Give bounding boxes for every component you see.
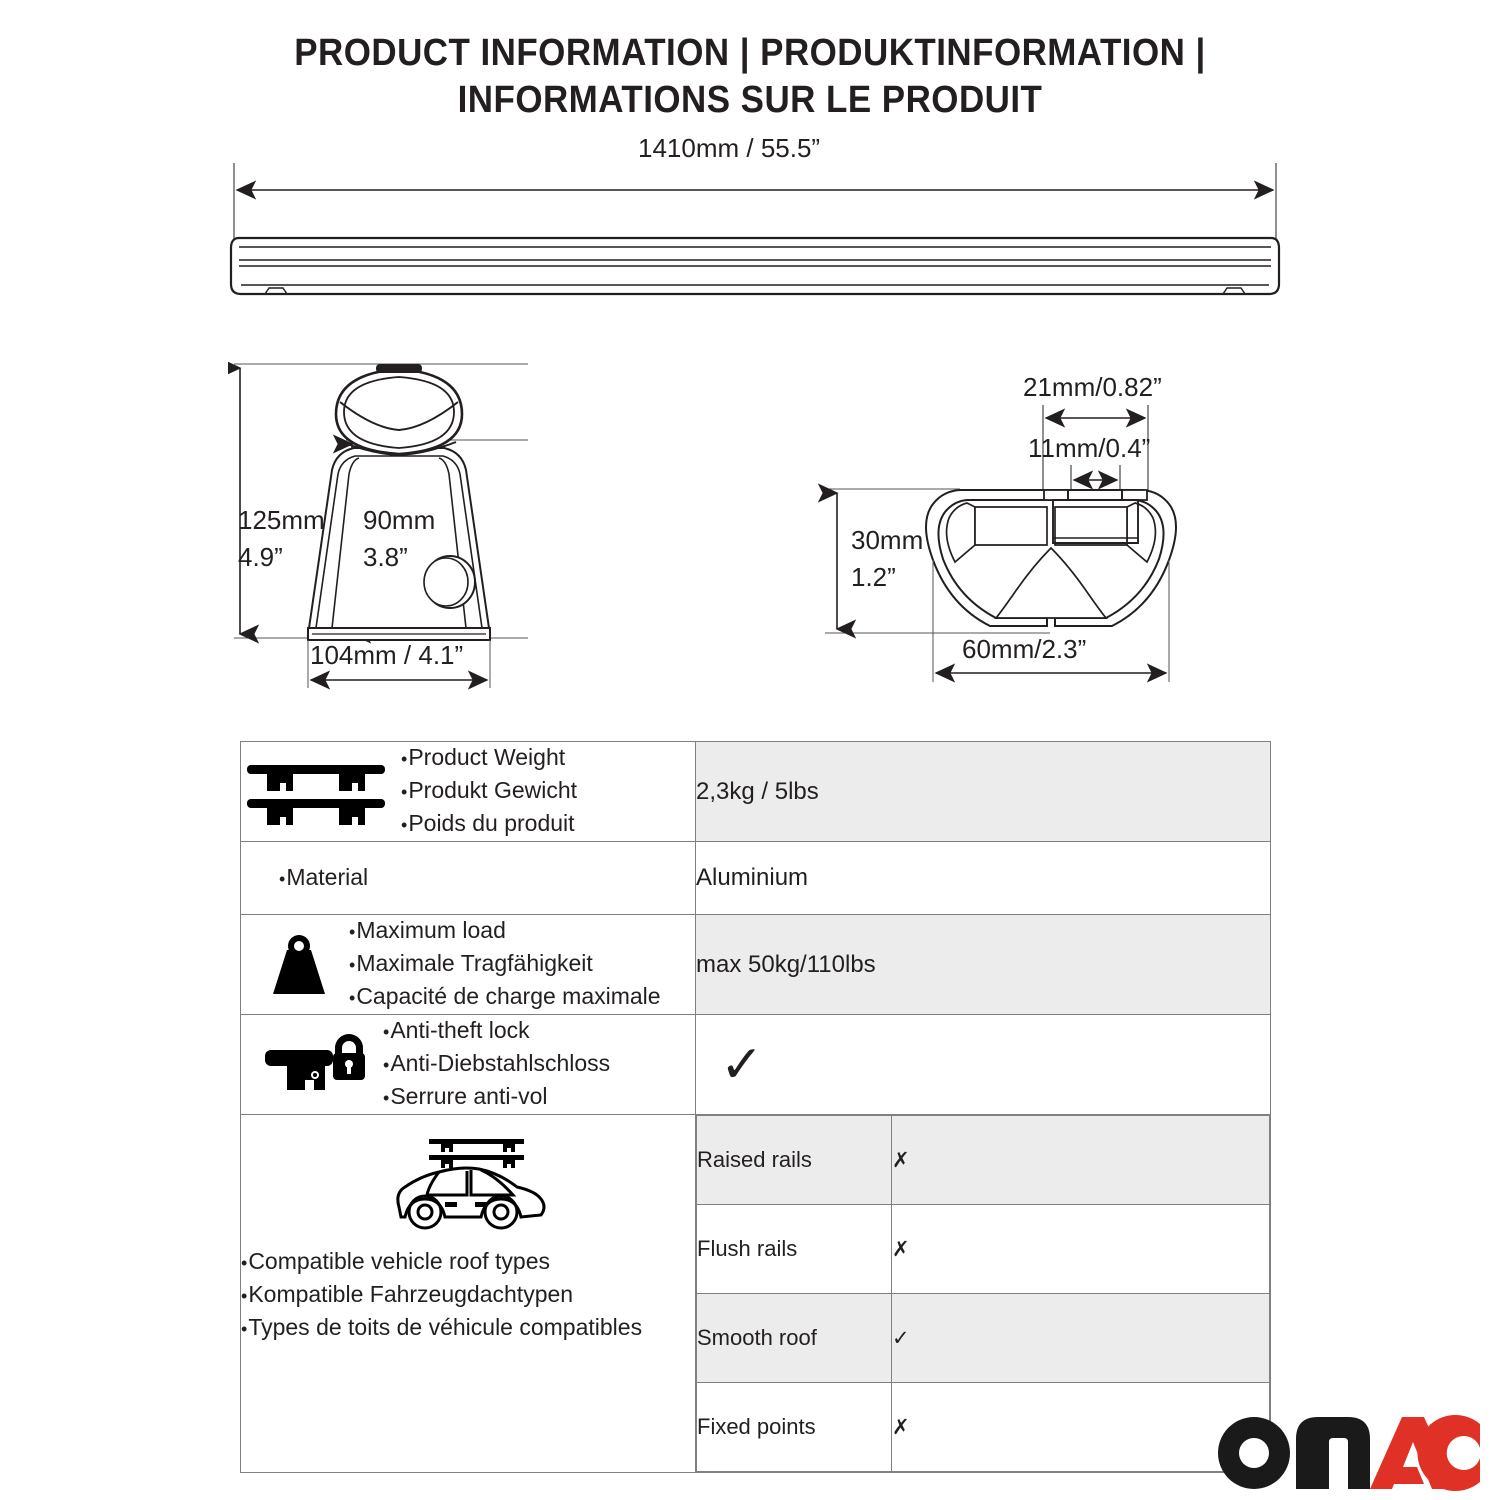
crossbar-length-drawing: 1410mm / 55.5” (225, 135, 1285, 320)
rooftypes-label-en: Compatible vehicle roof types (241, 1246, 695, 1279)
table-row: Maximum load Maximale Tragfähigkeit Capa… (241, 915, 1271, 1015)
roof-type-mark-raised-rails: ✗ (892, 1116, 1270, 1205)
weight-label-list: Product Weight Produkt Gewicht Poids du … (401, 742, 577, 841)
rooftypes-label-cell: Compatible vehicle roof types Kompatible… (241, 1115, 696, 1473)
maxload-label-en: Maximum load (349, 915, 661, 948)
page-title-line-1: PRODUCT INFORMATION | PRODUKTINFORMATION… (60, 30, 1440, 77)
maxload-label-fr: Capacité de charge maximale (349, 981, 661, 1014)
table-row: Compatible vehicle roof types Kompatible… (241, 1115, 1271, 1473)
material-label-cell: Material (241, 842, 696, 915)
lock-check-mark: ✓ (696, 1039, 1270, 1091)
rooftypes-value-cell: Raised rails ✗ Flush rails ✗ Smooth roof… (696, 1115, 1271, 1473)
crossbar-length-label: 1410mm / 55.5” (638, 133, 820, 164)
roof-type-name-smooth-roof: Smooth roof (697, 1294, 892, 1383)
profile-height-mm: 30mm (851, 522, 923, 559)
table-row: Product Weight Produkt Gewicht Poids du … (241, 742, 1271, 842)
page-title: PRODUCT INFORMATION | PRODUKTINFORMATION… (0, 30, 1500, 124)
profile-height-in: 1.2” (851, 559, 923, 596)
profile-width-label: 60mm/2.3” (962, 634, 1086, 665)
weight-icon (241, 932, 335, 998)
omac-logo (1212, 1412, 1480, 1497)
roof-types-subtable: Raised rails ✗ Flush rails ✗ Smooth roof… (696, 1115, 1270, 1472)
roof-type-row: Raised rails ✗ (697, 1116, 1270, 1205)
lock-label-list: Anti-theft lock Anti-Diebstahlschloss Se… (383, 1015, 610, 1114)
product-info-sheet: PRODUCT INFORMATION | PRODUKTINFORMATION… (0, 0, 1500, 1500)
maxload-label-list: Maximum load Maximale Tragfähigkeit Capa… (349, 915, 661, 1014)
lock-label-fr: Serrure anti-vol (383, 1081, 610, 1114)
roof-type-row: Smooth roof ✓ (697, 1294, 1270, 1383)
crossbars-icon (241, 759, 391, 825)
tower-height-inner-in: 3.8” (363, 539, 435, 576)
profile-height-label: 30mm 1.2” (851, 522, 923, 596)
rooftypes-label-list: Compatible vehicle roof types Kompatible… (241, 1246, 695, 1345)
page-title-line-2: INFORMATIONS SUR LE PRODUIT (60, 77, 1440, 124)
weight-label-cell: Product Weight Produkt Gewicht Poids du … (241, 742, 696, 842)
weight-value-cell: 2,3kg / 5lbs (696, 742, 1271, 842)
lock-label-de: Anti-Diebstahlschloss (383, 1048, 610, 1081)
tower-foot-drawing: 125mm 4.9” 90mm 3.8” 104mm / 4.1” (228, 350, 708, 700)
car-with-roof-rack-icon (383, 1129, 553, 1234)
material-label-list: Material (241, 862, 695, 895)
weight-label-fr: Poids du produit (401, 808, 577, 841)
maxload-label-de: Maximale Tragfähigkeit (349, 948, 661, 981)
roof-type-mark-smooth-roof: ✓ (892, 1294, 1270, 1383)
roof-type-row: Flush rails ✗ (697, 1205, 1270, 1294)
crossbar-profile-drawing: 21mm/0.82” 11mm/0.4” 30mm 1.2” 60mm/2.3” (815, 370, 1285, 700)
tower-height-overall-in: 4.9” (238, 539, 325, 576)
lock-label-cell: Anti-theft lock Anti-Diebstahlschloss Se… (241, 1015, 696, 1115)
tower-height-overall-mm: 125mm (238, 502, 325, 539)
material-value-cell: Aluminium (696, 842, 1271, 915)
table-row: Material Aluminium (241, 842, 1271, 915)
maxload-value-cell: max 50kg/110lbs (696, 915, 1271, 1015)
profile-slot-width-label: 11mm/0.4” (1028, 433, 1150, 464)
rooftypes-label-de: Kompatible Fahrzeugdachtypen (241, 1279, 695, 1312)
weight-label-en: Product Weight (401, 742, 577, 775)
weight-label-de: Produkt Gewicht (401, 775, 577, 808)
material-label-en: Material (279, 862, 695, 895)
tower-height-inner-mm: 90mm (363, 502, 435, 539)
lock-icon (241, 1032, 369, 1098)
roof-type-mark-flush-rails: ✗ (892, 1205, 1270, 1294)
lock-value-cell: ✓ (696, 1015, 1271, 1115)
product-spec-table: Product Weight Produkt Gewicht Poids du … (240, 741, 1271, 1473)
roof-type-name-fixed-points: Fixed points (697, 1383, 892, 1472)
profile-top-width-label: 21mm/0.82” (1023, 372, 1162, 403)
tower-width-label: 104mm / 4.1” (310, 640, 463, 671)
roof-type-name-flush-rails: Flush rails (697, 1205, 892, 1294)
maxload-label-cell: Maximum load Maximale Tragfähigkeit Capa… (241, 915, 696, 1015)
tower-height-inner-label: 90mm 3.8” (363, 502, 435, 576)
roof-type-row: Fixed points ✗ (697, 1383, 1270, 1472)
lock-label-en: Anti-theft lock (383, 1015, 610, 1048)
tower-height-overall-label: 125mm 4.9” (238, 502, 325, 576)
table-row: Anti-theft lock Anti-Diebstahlschloss Se… (241, 1015, 1271, 1115)
roof-type-name-raised-rails: Raised rails (697, 1116, 892, 1205)
rooftypes-label-fr: Types de toits de véhicule compatibles (241, 1312, 695, 1345)
